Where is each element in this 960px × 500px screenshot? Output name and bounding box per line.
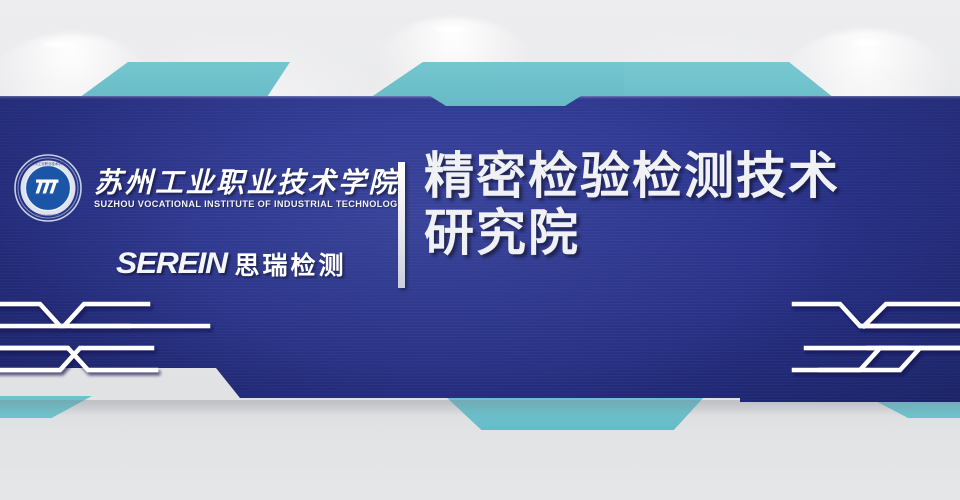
serein-wordmark: SEREIN	[116, 247, 227, 281]
signage-scene: 苏州工业职业技术学院 SUZHOU INSTITUTE 苏州工业职业技术学院 S…	[0, 0, 960, 500]
institution-name-group: 苏州工业职业技术学院 SUZHOU VOCATIONAL INSTITUTE O…	[94, 167, 404, 210]
partner-name-cn: 思瑞检测	[235, 246, 347, 282]
institution-brand-row: 苏州工业职业技术学院 SUZHOU INSTITUTE 苏州工业职业技术学院 S…	[12, 152, 400, 224]
main-title-line-2: 研究院	[424, 205, 944, 262]
svg-text:SUZHOU INSTITUTE: SUZHOU INSTITUTE	[36, 214, 60, 217]
ceiling-spotlight-right-icon	[850, 39, 884, 46]
main-title-line-1: 精密检验检测技术	[424, 148, 944, 205]
suzhou-vocational-institute-emblem-icon: 苏州工业职业技术学院 SUZHOU INSTITUTE	[12, 152, 84, 224]
main-title: 精密检验检测技术 研究院	[424, 148, 944, 262]
partner-brand-row: SEREIN 思瑞检测	[116, 246, 400, 282]
institution-name-cn: 苏州工业职业技术学院	[94, 169, 404, 199]
ceiling-spotlight-center-icon	[434, 26, 468, 33]
svg-text:苏州工业职业技术学院: 苏州工业职业技术学院	[31, 161, 66, 166]
panel-content: 苏州工业职业技术学院 SUZHOU INSTITUTE 苏州工业职业技术学院 S…	[0, 96, 960, 402]
institution-name-en: SUZHOU VOCATIONAL INSTITUTE OF INDUSTRIA…	[94, 199, 404, 209]
vertical-divider-bar	[398, 162, 405, 288]
panel-drop-shadow	[0, 400, 960, 416]
institution-brand-block: 苏州工业职业技术学院 SUZHOU INSTITUTE 苏州工业职业技术学院 S…	[12, 152, 400, 282]
ceiling-spotlight-left-icon	[42, 41, 76, 48]
